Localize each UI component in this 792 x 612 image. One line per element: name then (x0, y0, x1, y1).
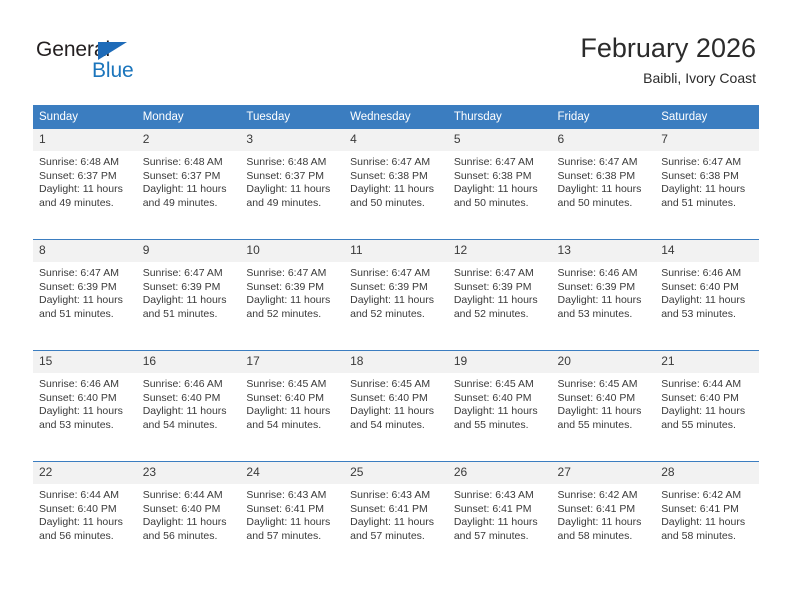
daylight-text: Daylight: 11 hours (350, 294, 442, 308)
day-info: Sunrise: 6:48 AM Sunset: 6:37 PM Dayligh… (33, 151, 137, 210)
day-cell[interactable]: 27 Sunrise: 6:42 AM Sunset: 6:41 PM Dayl… (552, 462, 656, 573)
day-number: 21 (655, 351, 759, 373)
daylight-text-cont: and 49 minutes. (246, 197, 338, 211)
day-info: Sunrise: 6:48 AM Sunset: 6:37 PM Dayligh… (240, 151, 344, 210)
day-number: 20 (552, 351, 656, 373)
day-info: Sunrise: 6:44 AM Sunset: 6:40 PM Dayligh… (33, 484, 137, 543)
day-cell[interactable]: 15 Sunrise: 6:46 AM Sunset: 6:40 PM Dayl… (33, 351, 137, 462)
daylight-text: Daylight: 11 hours (454, 294, 546, 308)
triangle-icon (98, 42, 127, 60)
daylight-text-cont: and 51 minutes. (143, 308, 235, 322)
daylight-text: Daylight: 11 hours (454, 516, 546, 530)
daylight-text-cont: and 53 minutes. (558, 308, 650, 322)
day-number: 4 (344, 129, 448, 151)
sunrise-text: Sunrise: 6:45 AM (454, 378, 546, 392)
daylight-text: Daylight: 11 hours (246, 294, 338, 308)
day-number: 15 (33, 351, 137, 373)
weekday-header-monday: Monday (137, 105, 241, 129)
weekday-header-row: Sunday Monday Tuesday Wednesday Thursday… (33, 105, 759, 129)
day-info: Sunrise: 6:42 AM Sunset: 6:41 PM Dayligh… (552, 484, 656, 543)
page-header: General Blue February 2026 Baibli, Ivory… (0, 0, 792, 100)
sunrise-text: Sunrise: 6:47 AM (558, 156, 650, 170)
daylight-text-cont: and 52 minutes. (246, 308, 338, 322)
daylight-text-cont: and 57 minutes. (246, 530, 338, 544)
sunrise-text: Sunrise: 6:46 AM (143, 378, 235, 392)
day-number: 18 (344, 351, 448, 373)
day-number: 22 (33, 462, 137, 484)
day-info: Sunrise: 6:47 AM Sunset: 6:38 PM Dayligh… (448, 151, 552, 210)
day-cell[interactable]: 1 Sunrise: 6:48 AM Sunset: 6:37 PM Dayli… (33, 129, 137, 240)
day-number: 7 (655, 129, 759, 151)
daylight-text: Daylight: 11 hours (143, 405, 235, 419)
sunrise-text: Sunrise: 6:47 AM (454, 267, 546, 281)
sunset-text: Sunset: 6:40 PM (39, 503, 131, 517)
day-info: Sunrise: 6:46 AM Sunset: 6:39 PM Dayligh… (552, 262, 656, 321)
daylight-text: Daylight: 11 hours (143, 516, 235, 530)
sunrise-text: Sunrise: 6:47 AM (246, 267, 338, 281)
sunrise-text: Sunrise: 6:43 AM (246, 489, 338, 503)
day-info: Sunrise: 6:46 AM Sunset: 6:40 PM Dayligh… (655, 262, 759, 321)
week-row: 8 Sunrise: 6:47 AM Sunset: 6:39 PM Dayli… (33, 240, 759, 351)
sunrise-text: Sunrise: 6:44 AM (143, 489, 235, 503)
daylight-text-cont: and 57 minutes. (454, 530, 546, 544)
sunrise-text: Sunrise: 6:47 AM (39, 267, 131, 281)
day-cell[interactable]: 23 Sunrise: 6:44 AM Sunset: 6:40 PM Dayl… (137, 462, 241, 573)
sunset-text: Sunset: 6:40 PM (454, 392, 546, 406)
daylight-text: Daylight: 11 hours (39, 183, 131, 197)
sunset-text: Sunset: 6:37 PM (246, 170, 338, 184)
day-number: 14 (655, 240, 759, 262)
day-cell[interactable]: 17 Sunrise: 6:45 AM Sunset: 6:40 PM Dayl… (240, 351, 344, 462)
day-info: Sunrise: 6:48 AM Sunset: 6:37 PM Dayligh… (137, 151, 241, 210)
day-cell[interactable]: 22 Sunrise: 6:44 AM Sunset: 6:40 PM Dayl… (33, 462, 137, 573)
day-info: Sunrise: 6:45 AM Sunset: 6:40 PM Dayligh… (240, 373, 344, 432)
day-number: 11 (344, 240, 448, 262)
day-number: 3 (240, 129, 344, 151)
sunset-text: Sunset: 6:41 PM (558, 503, 650, 517)
day-cell[interactable]: 28 Sunrise: 6:42 AM Sunset: 6:41 PM Dayl… (655, 462, 759, 573)
day-number: 28 (655, 462, 759, 484)
daylight-text: Daylight: 11 hours (39, 294, 131, 308)
sunset-text: Sunset: 6:38 PM (558, 170, 650, 184)
daylight-text-cont: and 54 minutes. (350, 419, 442, 433)
day-cell[interactable]: 26 Sunrise: 6:43 AM Sunset: 6:41 PM Dayl… (448, 462, 552, 573)
daylight-text-cont: and 50 minutes. (350, 197, 442, 211)
sunrise-text: Sunrise: 6:44 AM (39, 489, 131, 503)
sunset-text: Sunset: 6:39 PM (246, 281, 338, 295)
day-info: Sunrise: 6:43 AM Sunset: 6:41 PM Dayligh… (448, 484, 552, 543)
sunrise-text: Sunrise: 6:47 AM (143, 267, 235, 281)
week-row: 1 Sunrise: 6:48 AM Sunset: 6:37 PM Dayli… (33, 129, 759, 240)
day-number: 16 (137, 351, 241, 373)
sunset-text: Sunset: 6:39 PM (39, 281, 131, 295)
day-number: 2 (137, 129, 241, 151)
day-number: 17 (240, 351, 344, 373)
day-number: 8 (33, 240, 137, 262)
week-row: 22 Sunrise: 6:44 AM Sunset: 6:40 PM Dayl… (33, 462, 759, 573)
sunset-text: Sunset: 6:40 PM (350, 392, 442, 406)
day-number: 19 (448, 351, 552, 373)
sunset-text: Sunset: 6:41 PM (350, 503, 442, 517)
sunset-text: Sunset: 6:41 PM (661, 503, 753, 517)
daylight-text: Daylight: 11 hours (661, 294, 753, 308)
daylight-text-cont: and 54 minutes. (246, 419, 338, 433)
daylight-text: Daylight: 11 hours (350, 405, 442, 419)
daylight-text: Daylight: 11 hours (39, 516, 131, 530)
sunrise-sunset-calendar: Sunday Monday Tuesday Wednesday Thursday… (33, 105, 759, 572)
daylight-text-cont: and 52 minutes. (454, 308, 546, 322)
sunrise-text: Sunrise: 6:47 AM (454, 156, 546, 170)
daylight-text-cont: and 55 minutes. (661, 419, 753, 433)
sunrise-text: Sunrise: 6:47 AM (661, 156, 753, 170)
weekday-header-friday: Friday (552, 105, 656, 129)
daylight-text-cont: and 57 minutes. (350, 530, 442, 544)
day-info: Sunrise: 6:47 AM Sunset: 6:38 PM Dayligh… (655, 151, 759, 210)
day-cell[interactable]: 11 Sunrise: 6:47 AM Sunset: 6:39 PM Dayl… (344, 240, 448, 351)
daylight-text: Daylight: 11 hours (661, 516, 753, 530)
daylight-text: Daylight: 11 hours (454, 183, 546, 197)
page-subtitle: Baibli, Ivory Coast (580, 69, 756, 87)
page-title: February 2026 (580, 32, 756, 64)
daylight-text-cont: and 55 minutes. (454, 419, 546, 433)
day-number: 9 (137, 240, 241, 262)
daylight-text: Daylight: 11 hours (558, 405, 650, 419)
sunset-text: Sunset: 6:38 PM (350, 170, 442, 184)
sunset-text: Sunset: 6:41 PM (246, 503, 338, 517)
sunset-text: Sunset: 6:41 PM (454, 503, 546, 517)
sunset-text: Sunset: 6:40 PM (143, 392, 235, 406)
daylight-text: Daylight: 11 hours (39, 405, 131, 419)
day-number: 13 (552, 240, 656, 262)
sunrise-text: Sunrise: 6:44 AM (661, 378, 753, 392)
day-cell[interactable]: 6 Sunrise: 6:47 AM Sunset: 6:38 PM Dayli… (552, 129, 656, 240)
sunset-text: Sunset: 6:39 PM (558, 281, 650, 295)
day-info: Sunrise: 6:46 AM Sunset: 6:40 PM Dayligh… (137, 373, 241, 432)
day-info: Sunrise: 6:45 AM Sunset: 6:40 PM Dayligh… (344, 373, 448, 432)
daylight-text: Daylight: 11 hours (246, 516, 338, 530)
title-block: February 2026 Baibli, Ivory Coast (580, 32, 756, 87)
day-cell[interactable]: 7 Sunrise: 6:47 AM Sunset: 6:38 PM Dayli… (655, 129, 759, 240)
sunrise-text: Sunrise: 6:47 AM (350, 267, 442, 281)
day-info: Sunrise: 6:47 AM Sunset: 6:39 PM Dayligh… (344, 262, 448, 321)
week-row: 15 Sunrise: 6:46 AM Sunset: 6:40 PM Dayl… (33, 351, 759, 462)
logo-text-blue: Blue (92, 59, 134, 83)
day-info: Sunrise: 6:47 AM Sunset: 6:39 PM Dayligh… (137, 262, 241, 321)
day-info: Sunrise: 6:45 AM Sunset: 6:40 PM Dayligh… (448, 373, 552, 432)
daylight-text: Daylight: 11 hours (143, 183, 235, 197)
day-cell[interactable]: 19 Sunrise: 6:45 AM Sunset: 6:40 PM Dayl… (448, 351, 552, 462)
daylight-text: Daylight: 11 hours (246, 183, 338, 197)
day-cell[interactable]: 16 Sunrise: 6:46 AM Sunset: 6:40 PM Dayl… (137, 351, 241, 462)
daylight-text-cont: and 53 minutes. (39, 419, 131, 433)
sunset-text: Sunset: 6:37 PM (39, 170, 131, 184)
day-cell[interactable]: 13 Sunrise: 6:46 AM Sunset: 6:39 PM Dayl… (552, 240, 656, 351)
day-info: Sunrise: 6:47 AM Sunset: 6:38 PM Dayligh… (552, 151, 656, 210)
day-number: 5 (448, 129, 552, 151)
sunrise-text: Sunrise: 6:47 AM (350, 156, 442, 170)
day-cell[interactable]: 14 Sunrise: 6:46 AM Sunset: 6:40 PM Dayl… (655, 240, 759, 351)
sunset-text: Sunset: 6:37 PM (143, 170, 235, 184)
sunset-text: Sunset: 6:40 PM (143, 503, 235, 517)
daylight-text-cont: and 58 minutes. (661, 530, 753, 544)
day-info: Sunrise: 6:47 AM Sunset: 6:39 PM Dayligh… (33, 262, 137, 321)
sunrise-text: Sunrise: 6:43 AM (350, 489, 442, 503)
daylight-text-cont: and 50 minutes. (454, 197, 546, 211)
sunrise-text: Sunrise: 6:46 AM (661, 267, 753, 281)
sunset-text: Sunset: 6:38 PM (454, 170, 546, 184)
day-info: Sunrise: 6:43 AM Sunset: 6:41 PM Dayligh… (240, 484, 344, 543)
day-cell[interactable]: 10 Sunrise: 6:47 AM Sunset: 6:39 PM Dayl… (240, 240, 344, 351)
day-number: 23 (137, 462, 241, 484)
daylight-text: Daylight: 11 hours (143, 294, 235, 308)
sunrise-text: Sunrise: 6:45 AM (350, 378, 442, 392)
weekday-header-saturday: Saturday (655, 105, 759, 129)
sunrise-text: Sunrise: 6:48 AM (39, 156, 131, 170)
day-cell[interactable]: 24 Sunrise: 6:43 AM Sunset: 6:41 PM Dayl… (240, 462, 344, 573)
daylight-text: Daylight: 11 hours (661, 405, 753, 419)
daylight-text-cont: and 52 minutes. (350, 308, 442, 322)
daylight-text: Daylight: 11 hours (454, 405, 546, 419)
sunrise-text: Sunrise: 6:45 AM (558, 378, 650, 392)
sunset-text: Sunset: 6:39 PM (350, 281, 442, 295)
daylight-text-cont: and 53 minutes. (661, 308, 753, 322)
day-info: Sunrise: 6:44 AM Sunset: 6:40 PM Dayligh… (655, 373, 759, 432)
day-cell[interactable]: 5 Sunrise: 6:47 AM Sunset: 6:38 PM Dayli… (448, 129, 552, 240)
daylight-text-cont: and 55 minutes. (558, 419, 650, 433)
calendar-page: General Blue February 2026 Baibli, Ivory… (0, 0, 792, 612)
daylight-text-cont: and 50 minutes. (558, 197, 650, 211)
daylight-text-cont: and 51 minutes. (661, 197, 753, 211)
day-cell[interactable]: 12 Sunrise: 6:47 AM Sunset: 6:39 PM Dayl… (448, 240, 552, 351)
day-info: Sunrise: 6:47 AM Sunset: 6:38 PM Dayligh… (344, 151, 448, 210)
sunrise-text: Sunrise: 6:46 AM (558, 267, 650, 281)
daylight-text-cont: and 49 minutes. (39, 197, 131, 211)
general-blue-logo[interactable]: General Blue (36, 38, 166, 86)
day-info: Sunrise: 6:47 AM Sunset: 6:39 PM Dayligh… (240, 262, 344, 321)
sunset-text: Sunset: 6:40 PM (39, 392, 131, 406)
daylight-text-cont: and 56 minutes. (143, 530, 235, 544)
daylight-text: Daylight: 11 hours (350, 516, 442, 530)
day-cell[interactable]: 4 Sunrise: 6:47 AM Sunset: 6:38 PM Dayli… (344, 129, 448, 240)
day-info: Sunrise: 6:45 AM Sunset: 6:40 PM Dayligh… (552, 373, 656, 432)
daylight-text-cont: and 54 minutes. (143, 419, 235, 433)
sunrise-text: Sunrise: 6:42 AM (558, 489, 650, 503)
daylight-text: Daylight: 11 hours (558, 183, 650, 197)
day-cell[interactable]: 9 Sunrise: 6:47 AM Sunset: 6:39 PM Dayli… (137, 240, 241, 351)
daylight-text-cont: and 49 minutes. (143, 197, 235, 211)
day-cell[interactable]: 2 Sunrise: 6:48 AM Sunset: 6:37 PM Dayli… (137, 129, 241, 240)
sunset-text: Sunset: 6:40 PM (661, 281, 753, 295)
day-info: Sunrise: 6:46 AM Sunset: 6:40 PM Dayligh… (33, 373, 137, 432)
daylight-text: Daylight: 11 hours (661, 183, 753, 197)
day-info: Sunrise: 6:43 AM Sunset: 6:41 PM Dayligh… (344, 484, 448, 543)
daylight-text: Daylight: 11 hours (558, 294, 650, 308)
day-number: 25 (344, 462, 448, 484)
day-info: Sunrise: 6:44 AM Sunset: 6:40 PM Dayligh… (137, 484, 241, 543)
sunset-text: Sunset: 6:39 PM (143, 281, 235, 295)
sunrise-text: Sunrise: 6:48 AM (246, 156, 338, 170)
daylight-text: Daylight: 11 hours (246, 405, 338, 419)
calendar-body: 1 Sunrise: 6:48 AM Sunset: 6:37 PM Dayli… (33, 129, 759, 572)
day-number: 10 (240, 240, 344, 262)
weekday-header-thursday: Thursday (448, 105, 552, 129)
day-info: Sunrise: 6:47 AM Sunset: 6:39 PM Dayligh… (448, 262, 552, 321)
weekday-header-sunday: Sunday (33, 105, 137, 129)
sunrise-text: Sunrise: 6:48 AM (143, 156, 235, 170)
sunrise-text: Sunrise: 6:45 AM (246, 378, 338, 392)
day-cell[interactable]: 25 Sunrise: 6:43 AM Sunset: 6:41 PM Dayl… (344, 462, 448, 573)
weekday-header-tuesday: Tuesday (240, 105, 344, 129)
sunset-text: Sunset: 6:39 PM (454, 281, 546, 295)
day-cell[interactable]: 20 Sunrise: 6:45 AM Sunset: 6:40 PM Dayl… (552, 351, 656, 462)
day-number: 26 (448, 462, 552, 484)
day-number: 6 (552, 129, 656, 151)
day-cell[interactable]: 3 Sunrise: 6:48 AM Sunset: 6:37 PM Dayli… (240, 129, 344, 240)
day-number: 1 (33, 129, 137, 151)
daylight-text-cont: and 58 minutes. (558, 530, 650, 544)
sunset-text: Sunset: 6:38 PM (661, 170, 753, 184)
sunset-text: Sunset: 6:40 PM (558, 392, 650, 406)
day-info: Sunrise: 6:42 AM Sunset: 6:41 PM Dayligh… (655, 484, 759, 543)
daylight-text-cont: and 51 minutes. (39, 308, 131, 322)
sunrise-text: Sunrise: 6:42 AM (661, 489, 753, 503)
daylight-text-cont: and 56 minutes. (39, 530, 131, 544)
day-cell[interactable]: 18 Sunrise: 6:45 AM Sunset: 6:40 PM Dayl… (344, 351, 448, 462)
weekday-header-wednesday: Wednesday (344, 105, 448, 129)
daylight-text: Daylight: 11 hours (558, 516, 650, 530)
day-number: 27 (552, 462, 656, 484)
sunrise-text: Sunrise: 6:43 AM (454, 489, 546, 503)
sunset-text: Sunset: 6:40 PM (661, 392, 753, 406)
daylight-text: Daylight: 11 hours (350, 183, 442, 197)
sunset-text: Sunset: 6:40 PM (246, 392, 338, 406)
day-cell[interactable]: 8 Sunrise: 6:47 AM Sunset: 6:39 PM Dayli… (33, 240, 137, 351)
day-cell[interactable]: 21 Sunrise: 6:44 AM Sunset: 6:40 PM Dayl… (655, 351, 759, 462)
day-number: 24 (240, 462, 344, 484)
sunrise-text: Sunrise: 6:46 AM (39, 378, 131, 392)
day-number: 12 (448, 240, 552, 262)
